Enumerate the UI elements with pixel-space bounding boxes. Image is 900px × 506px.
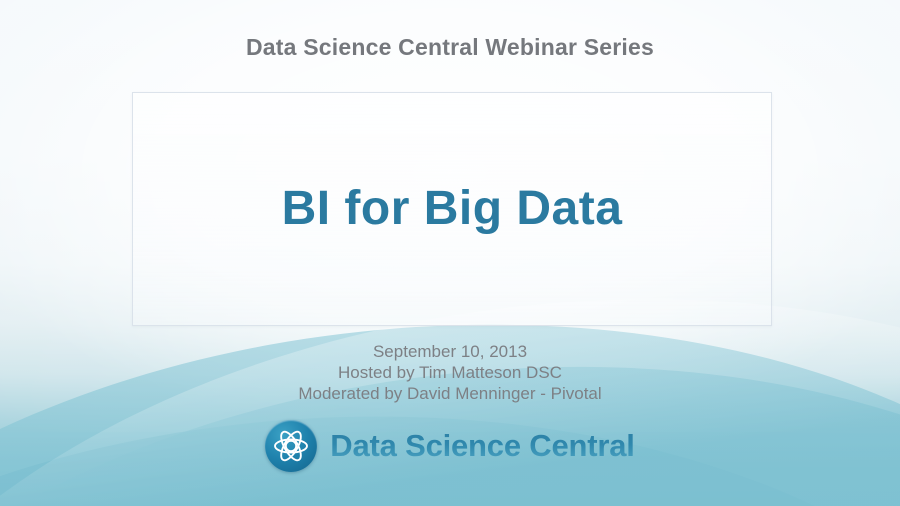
brand-logo-text: Data Science Central [330,428,634,464]
brand-logo: Data Science Central [0,420,900,472]
webinar-date: September 10, 2013 [0,341,900,362]
webinar-host: Hosted by Tim Matteson DSC [0,362,900,383]
presentation-details: September 10, 2013 Hosted by Tim Matteso… [0,341,900,404]
webinar-series-header: Data Science Central Webinar Series [0,34,900,61]
atom-icon [265,420,317,472]
title-panel: BI for Big Data [132,92,772,326]
webinar-title-slide: Data Science Central Webinar Series BI f… [0,0,900,506]
page-title: BI for Big Data [282,183,623,236]
webinar-moderator: Moderated by David Menninger - Pivotal [0,383,900,404]
